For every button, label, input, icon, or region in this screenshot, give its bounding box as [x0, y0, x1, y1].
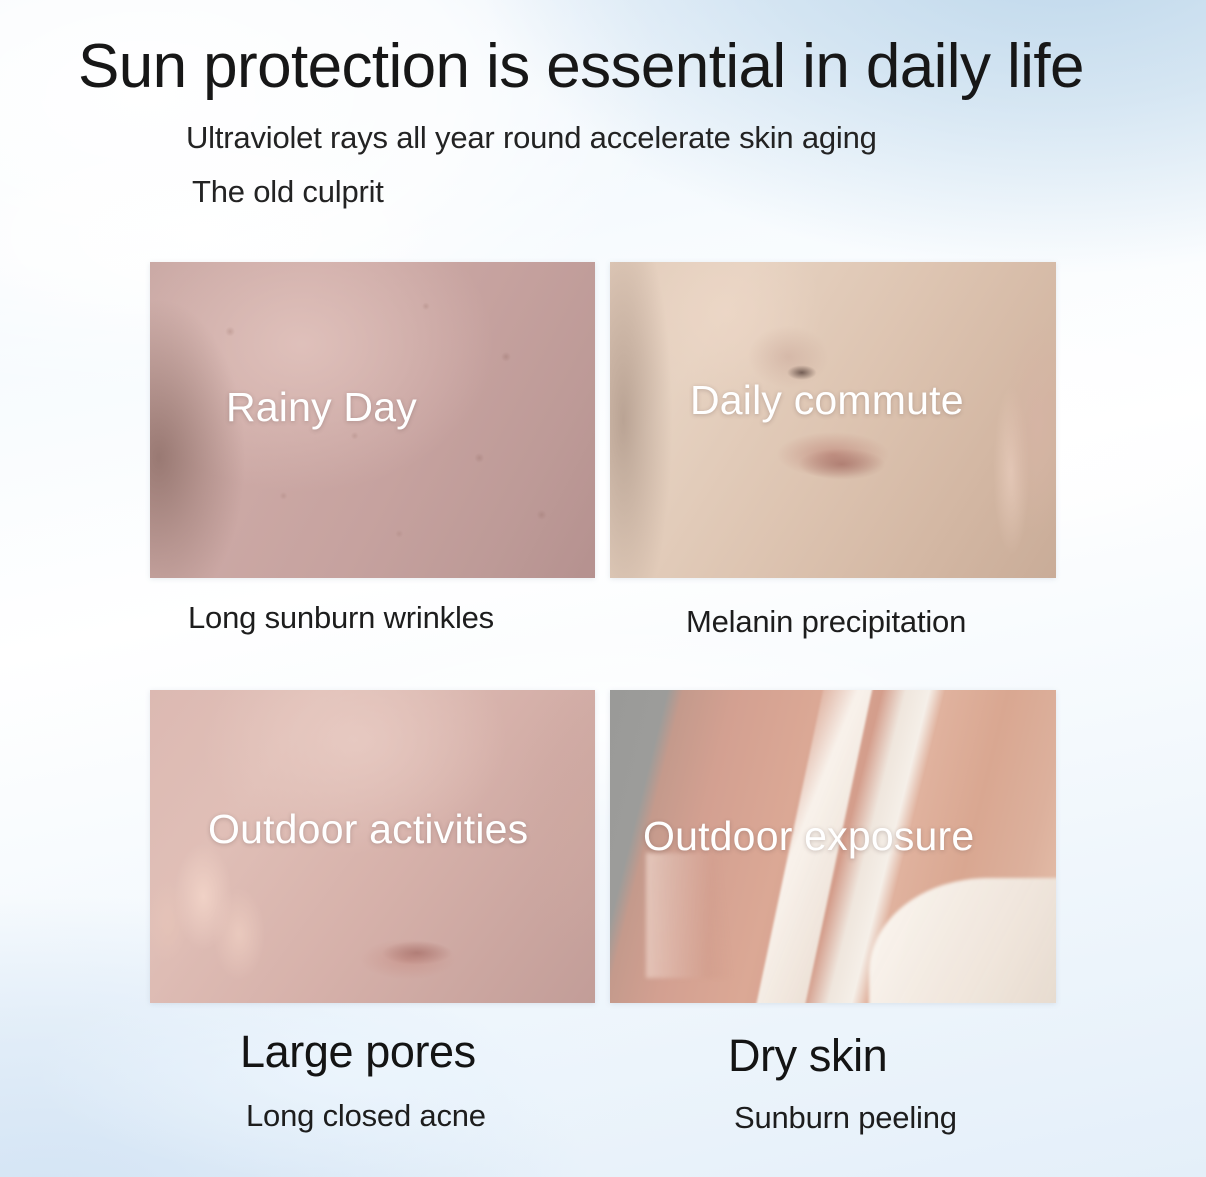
poster-root: Sun protection is essential in daily lif… — [0, 0, 1206, 1177]
subtitle-line-1: Ultraviolet rays all year round accelera… — [186, 120, 877, 156]
tile-overlay-label: Rainy Day — [226, 384, 417, 431]
photo-tile-rainy-day: Rainy Day — [150, 262, 595, 578]
photo-tile-daily-commute: Daily commute — [610, 262, 1056, 578]
caption-melanin-precipitation: Melanin precipitation — [686, 604, 966, 640]
tank-top-body — [869, 878, 1056, 1003]
tile-overlay-label: Outdoor exposure — [643, 813, 974, 860]
sub-caption-sunburn-peeling: Sunburn peeling — [734, 1100, 957, 1136]
caption-long-sunburn-wrinkles: Long sunburn wrinkles — [188, 600, 494, 636]
tile-overlay-label: Outdoor activities — [208, 806, 528, 853]
photo-tile-outdoor-exposure: Outdoor exposure — [610, 690, 1056, 1003]
peeling-skin-patch — [646, 853, 780, 978]
caption-dry-skin: Dry skin — [728, 1030, 887, 1082]
caption-large-pores: Large pores — [240, 1026, 476, 1078]
photo-tile-outdoor-activities: Outdoor activities — [150, 690, 595, 1003]
sub-caption-long-closed-acne: Long closed acne — [246, 1098, 486, 1134]
tile-overlay-label: Daily commute — [690, 377, 964, 424]
subtitle-line-2: The old culprit — [192, 174, 384, 210]
page-title: Sun protection is essential in daily lif… — [78, 34, 1084, 100]
